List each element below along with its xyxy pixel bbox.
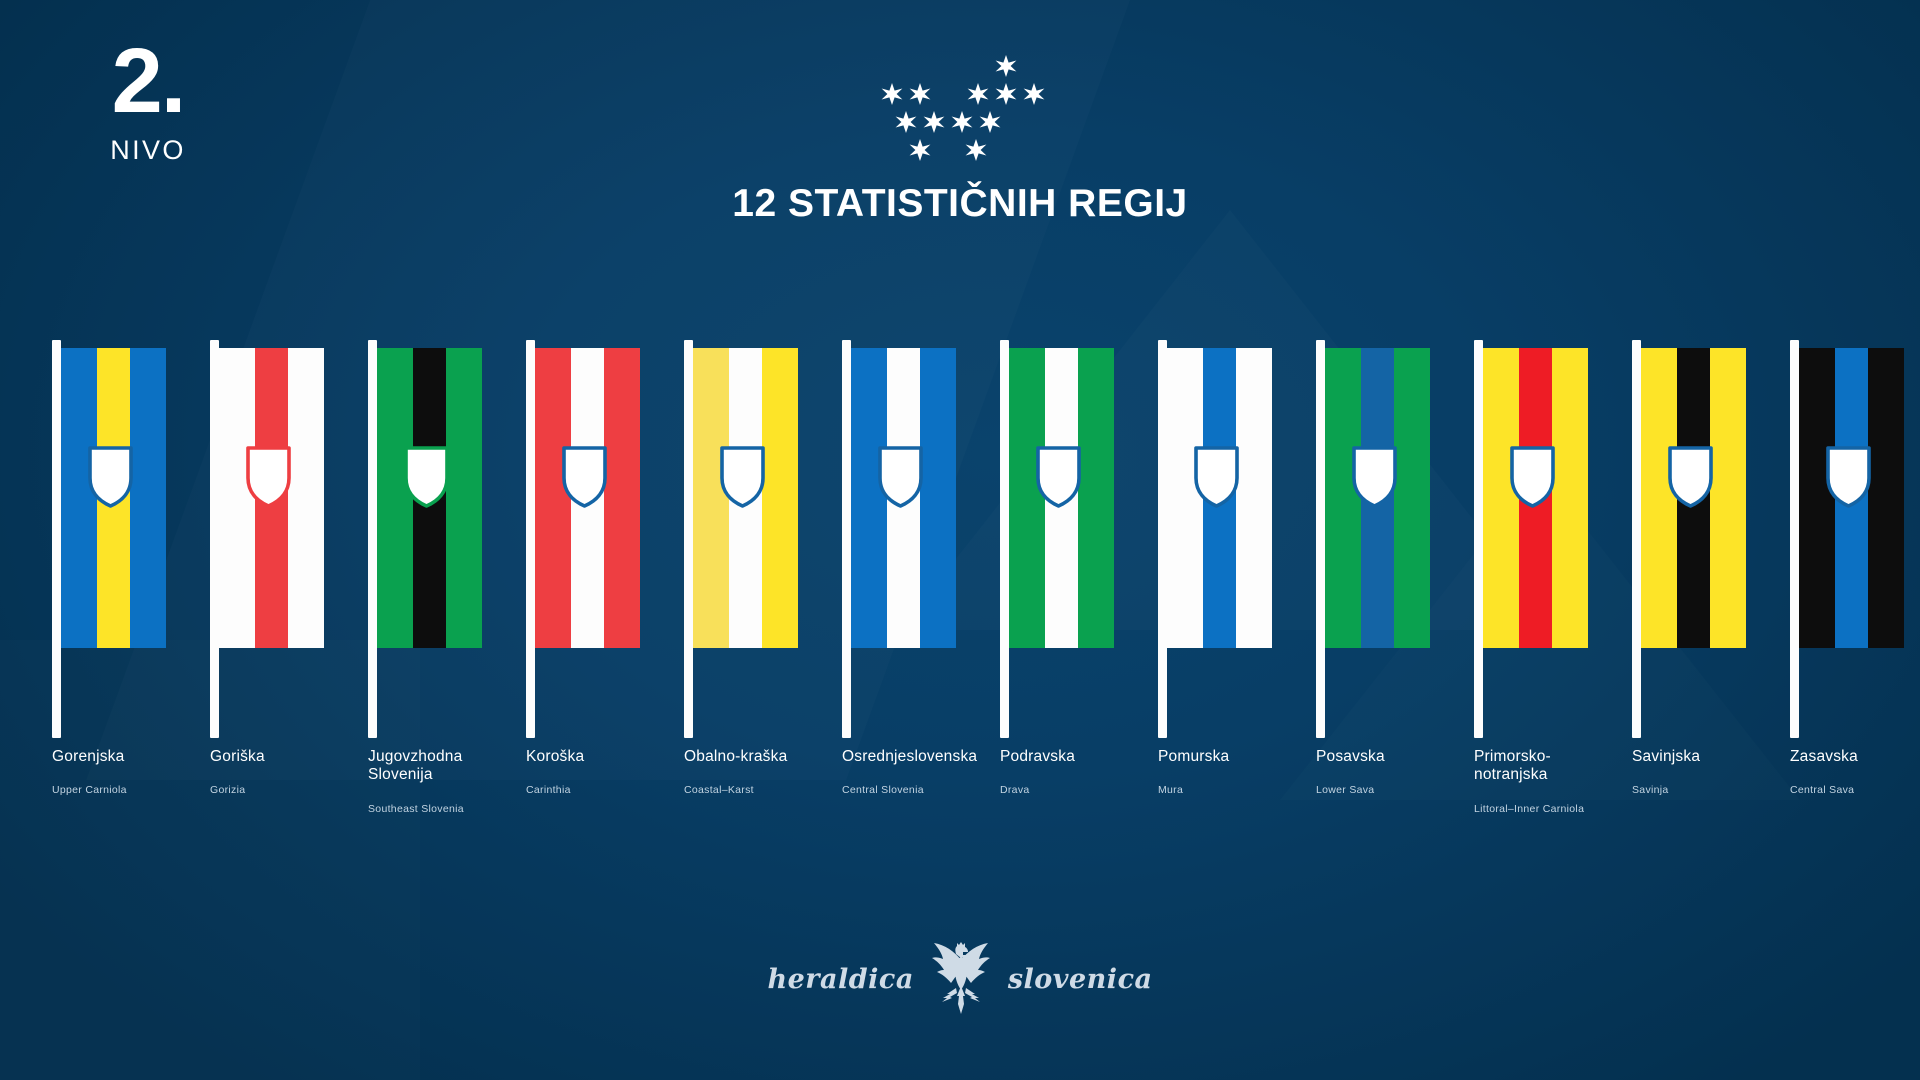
region-name-en: Carinthia — [526, 784, 676, 796]
region-name-en: Gorizia — [210, 784, 360, 796]
flag-shield-icon — [87, 445, 134, 509]
flag-pole — [1632, 340, 1641, 738]
flag-koro-ka[interactable] — [526, 340, 684, 760]
region-name-sl: Primorsko-notranjska — [1474, 748, 1624, 785]
flag-pole — [210, 340, 219, 738]
flag-posavska[interactable] — [1316, 340, 1474, 760]
region-name-sl: Posavska — [1316, 748, 1466, 766]
region-name-sl: Jugovzhodna Slovenija — [368, 748, 518, 785]
flag-pomurska[interactable] — [1158, 340, 1316, 760]
twelve-stars-icon — [860, 52, 1060, 168]
region-name-sl: Podravska — [1000, 748, 1150, 766]
region-name-en: Savinja — [1632, 784, 1782, 796]
flag-pole — [842, 340, 851, 738]
region-name-en: Coastal–Karst — [684, 784, 834, 796]
flag-shield-icon — [1667, 445, 1714, 509]
flag-shield-icon — [1509, 445, 1556, 509]
flag-stripe — [920, 348, 956, 648]
flags-row — [52, 340, 1868, 660]
flag-label-cell: PomurskaMura — [1158, 748, 1316, 858]
flag-stripe — [604, 348, 640, 648]
flag-stripe — [288, 348, 324, 648]
flag-label-cell: PodravskaDrava — [1000, 748, 1158, 858]
flag-pole — [1474, 340, 1483, 738]
region-name-sl: Zasavska — [1790, 748, 1920, 766]
flag-label-cell: Primorsko-notranjskaLittoral–Inner Carni… — [1474, 748, 1632, 858]
flag-label-cell: PosavskaLower Sava — [1316, 748, 1474, 858]
region-name-sl: Obalno-kraška — [684, 748, 834, 766]
flag-stripe — [130, 348, 166, 648]
flag-pole — [526, 340, 535, 738]
flag-pole — [1000, 340, 1009, 738]
flag-savinjska[interactable] — [1632, 340, 1790, 760]
flag-shield-icon — [1193, 445, 1240, 509]
region-name-en: Central Sava — [1790, 784, 1920, 796]
flag-pole — [1790, 340, 1799, 738]
flag-label-cell: KoroškaCarinthia — [526, 748, 684, 858]
flag-stripe — [1078, 348, 1114, 648]
flag-pole — [52, 340, 61, 738]
region-name-en: Central Slovenia — [842, 784, 992, 796]
flag-shield-icon — [1351, 445, 1398, 509]
header: 12 STATISTIČNIH REGIJ — [0, 52, 1920, 226]
logo-word-right: slovenica — [1008, 964, 1153, 995]
flag-pole — [684, 340, 693, 738]
flag-shield-icon — [719, 445, 766, 509]
heraldic-eagle-icon — [930, 940, 992, 1018]
flag-stripe — [1710, 348, 1746, 648]
flag-stripe — [1236, 348, 1272, 648]
region-name-en: Littoral–Inner Carniola — [1474, 803, 1624, 815]
flag-obalno-kra-ka[interactable] — [684, 340, 842, 760]
flag-stripe — [446, 348, 482, 648]
flag-label-cell: OsrednjeslovenskaCentral Slovenia — [842, 748, 1000, 858]
flag-pole — [1316, 340, 1325, 738]
flag-label-cell: GoriškaGorizia — [210, 748, 368, 858]
flag-label-cell: GorenjskaUpper Carniola — [52, 748, 210, 858]
flag-shield-icon — [403, 445, 450, 509]
page-title: 12 STATISTIČNIH REGIJ — [0, 182, 1920, 226]
footer-logo: heraldica slovenica — [0, 940, 1920, 1018]
region-name-en: Drava — [1000, 784, 1150, 796]
region-name-en: Mura — [1158, 784, 1308, 796]
flag-stripe — [1394, 348, 1430, 648]
flag-shield-icon — [1035, 445, 1082, 509]
flag-shield-icon — [1825, 445, 1872, 509]
flag-label-cell: Jugovzhodna SlovenijaSoutheast Slovenia — [368, 748, 526, 858]
region-name-sl: Osrednjeslovenska — [842, 748, 992, 766]
flag-shield-icon — [245, 445, 292, 509]
flag-primorsko-notranjska[interactable] — [1474, 340, 1632, 760]
region-name-en: Lower Sava — [1316, 784, 1466, 796]
region-name-en: Southeast Slovenia — [368, 803, 518, 815]
flag-pole — [1158, 340, 1167, 738]
flag-shield-icon — [877, 445, 924, 509]
flag-stripe — [1868, 348, 1904, 648]
region-name-sl: Gorenjska — [52, 748, 202, 766]
flag-gori-ka[interactable] — [210, 340, 368, 760]
flag-shield-icon — [561, 445, 608, 509]
flag-osrednjeslovenska[interactable] — [842, 340, 1000, 760]
flag-gorenjska[interactable] — [52, 340, 210, 760]
region-name-sl: Savinjska — [1632, 748, 1782, 766]
region-name-sl: Koroška — [526, 748, 676, 766]
logo-word-left: heraldica — [767, 964, 913, 995]
flag-label-cell: Obalno-kraškaCoastal–Karst — [684, 748, 842, 858]
region-name-sl: Pomurska — [1158, 748, 1308, 766]
flag-jugovzhodna-slovenija[interactable] — [368, 340, 526, 760]
region-name-en: Upper Carniola — [52, 784, 202, 796]
flag-stripe — [1552, 348, 1588, 648]
flag-label-cell: ZasavskaCentral Sava — [1790, 748, 1920, 858]
region-name-sl: Goriška — [210, 748, 360, 766]
flag-podravska[interactable] — [1000, 340, 1158, 760]
flag-stripe — [762, 348, 798, 648]
flag-pole — [368, 340, 377, 738]
labels-row: GorenjskaUpper CarniolaGoriškaGoriziaJug… — [52, 748, 1868, 858]
flag-label-cell: SavinjskaSavinja — [1632, 748, 1790, 858]
flag-zasavska[interactable] — [1790, 340, 1920, 760]
